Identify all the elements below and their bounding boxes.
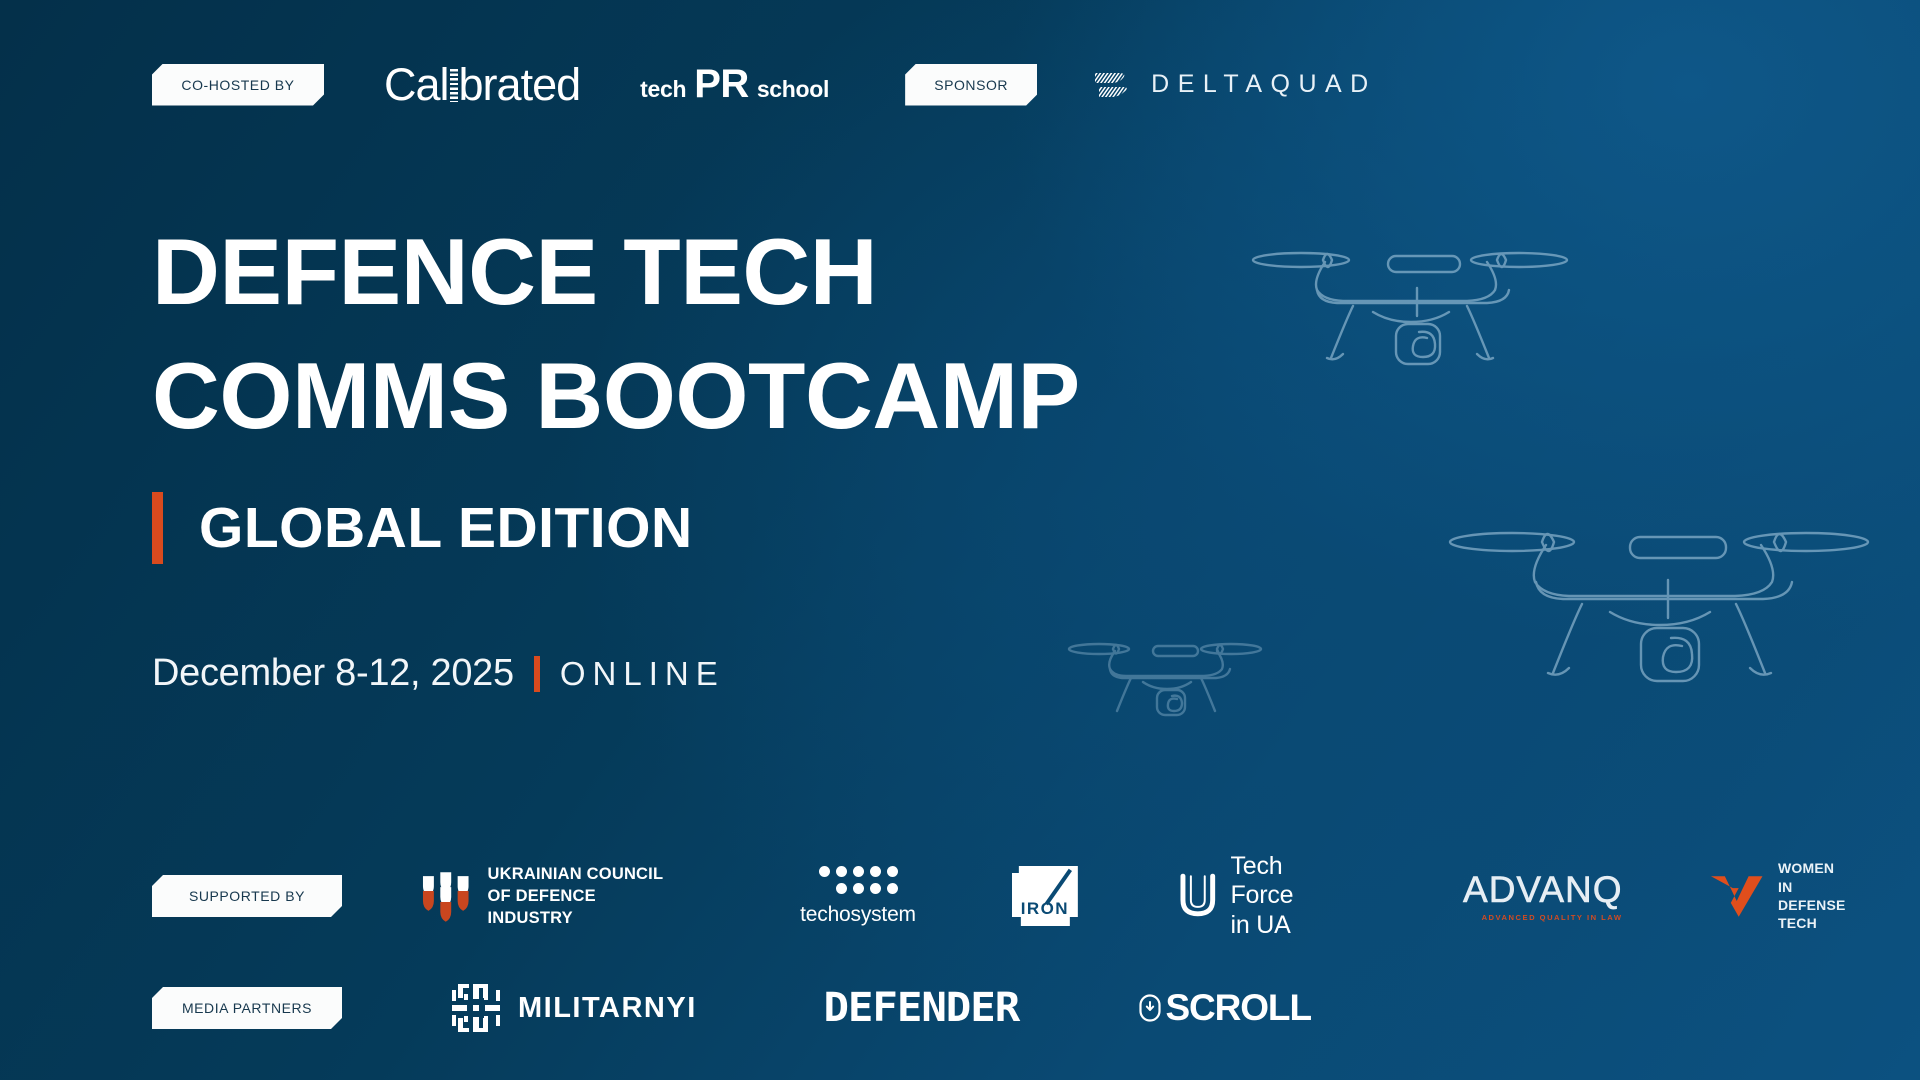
ucdi-line2: OF DEFENCE INDUSTRY <box>488 885 685 930</box>
tech-pr-school-logo[interactable]: tech PR school <box>640 62 829 107</box>
calibrated-logo[interactable]: Cal brated <box>384 62 580 107</box>
shields-icon <box>420 870 472 922</box>
techpr-word-pr: PR <box>694 62 749 107</box>
ukrainian-council-of-defence-industry-logo[interactable]: UKRAINIAN COUNCIL OF DEFENCE INDUSTRY <box>420 863 684 930</box>
defender-logo[interactable]: DEFENDER <box>823 985 1019 1031</box>
techosystem-wordmark: techosystem <box>800 903 916 927</box>
iron-badge-icon: IRON <box>1012 866 1078 926</box>
header-partner-row: CO-HOSTED BY Cal brated tech PR school S… <box>152 62 1377 107</box>
widt-line2: DEFENSE <box>1778 896 1852 914</box>
event-meta-row: December 8-12, 2025 ONLINE <box>152 652 1080 695</box>
deltaquad-mark-icon <box>1093 72 1129 98</box>
widt-line3: TECH <box>1778 914 1852 932</box>
techpr-word-tech: tech <box>640 76 686 103</box>
drone-illustration-middle <box>1440 500 1880 720</box>
supported-by-row: SUPPORTED BY UKRAINIAN COUNCIL OF D <box>152 852 1852 940</box>
cohosted-by-badge: CO-HOSTED BY <box>152 64 324 106</box>
advanq-wordmark: ADVANQ <box>1463 871 1623 908</box>
iron-logo[interactable]: IRON <box>1012 866 1078 926</box>
widt-line1: WOMEN IN <box>1778 859 1852 896</box>
advanq-logo[interactable]: ADVANQ ADVANCED QUALITY IN LAW <box>1463 871 1623 922</box>
women-in-defense-tech-logo[interactable]: WOMEN IN DEFENSE TECH <box>1709 859 1852 933</box>
supported-logos: UKRAINIAN COUNCIL OF DEFENCE INDUSTRY te… <box>342 852 1852 941</box>
hero-block: DEFENCE TECH COMMS BOOTCAMP GLOBAL EDITI… <box>152 210 1080 695</box>
ucdi-wordmark: UKRAINIAN COUNCIL OF DEFENCE INDUSTRY <box>488 863 685 930</box>
media-partners-badge: MEDIA PARTNERS <box>152 987 342 1029</box>
deltaquad-logo[interactable]: DELTAQUAD <box>1093 70 1377 99</box>
dots-icon <box>819 866 898 894</box>
mouse-scroll-icon <box>1139 994 1161 1022</box>
supported-by-badge: SUPPORTED BY <box>152 875 342 917</box>
tech-force-wordmark: Tech Force in UA <box>1230 852 1351 941</box>
calibrated-logo-prefix: Cal <box>384 62 449 107</box>
w-arrow-icon <box>1709 873 1764 919</box>
drone-illustration-top <box>1245 228 1575 398</box>
techpr-word-school: school <box>757 76 829 103</box>
techosystem-logo[interactable]: techosystem <box>800 866 916 927</box>
tfu-line1: Tech Force <box>1230 852 1351 911</box>
widt-wordmark: WOMEN IN DEFENSE TECH <box>1778 859 1852 933</box>
drone-illustration-small <box>1065 628 1265 738</box>
sponsor-badge-wrap: SPONSOR <box>905 64 1037 106</box>
deltaquad-wordmark: DELTAQUAD <box>1151 70 1377 99</box>
media-logos: MILITARNYI DEFENDER SCROLL <box>342 982 1852 1034</box>
scroll-wordmark: SCROLL <box>1165 987 1311 1029</box>
scroll-logo[interactable]: SCROLL <box>1139 987 1311 1029</box>
calibrated-logo-suffix: brated <box>459 62 581 107</box>
sponsor-badge: SPONSOR <box>905 64 1037 106</box>
barcode-icon <box>450 69 458 102</box>
page-title-line2: COMMS BOOTCAMP <box>152 334 1080 458</box>
meta-separator <box>534 656 540 692</box>
edition-label: GLOBAL EDITION <box>199 500 693 557</box>
u-mark-icon <box>1178 873 1218 919</box>
event-mode: ONLINE <box>560 655 725 693</box>
page-title-line1: DEFENCE TECH <box>152 210 1080 334</box>
edition-row: GLOBAL EDITION <box>152 492 1080 564</box>
tfu-line2: in UA <box>1230 911 1351 941</box>
iron-wordmark: IRON <box>1021 899 1069 919</box>
tech-force-in-ua-logo[interactable]: Tech Force in UA <box>1178 852 1351 941</box>
media-partners-row: MEDIA PARTNERS <box>152 964 1852 1052</box>
event-date: December 8-12, 2025 <box>152 652 514 695</box>
militarnyi-mark-icon <box>450 982 502 1034</box>
militarnyi-wordmark: MILITARNYI <box>518 992 697 1025</box>
accent-bar <box>152 492 163 564</box>
partners-section: SUPPORTED BY UKRAINIAN COUNCIL OF D <box>152 852 1852 1052</box>
ucdi-line1: UKRAINIAN COUNCIL <box>488 863 685 885</box>
advanq-tagline: ADVANCED QUALITY IN LAW <box>1482 913 1623 922</box>
militarnyi-logo[interactable]: MILITARNYI <box>450 982 697 1034</box>
poster-canvas: CO-HOSTED BY Cal brated tech PR school S… <box>0 0 1920 1080</box>
